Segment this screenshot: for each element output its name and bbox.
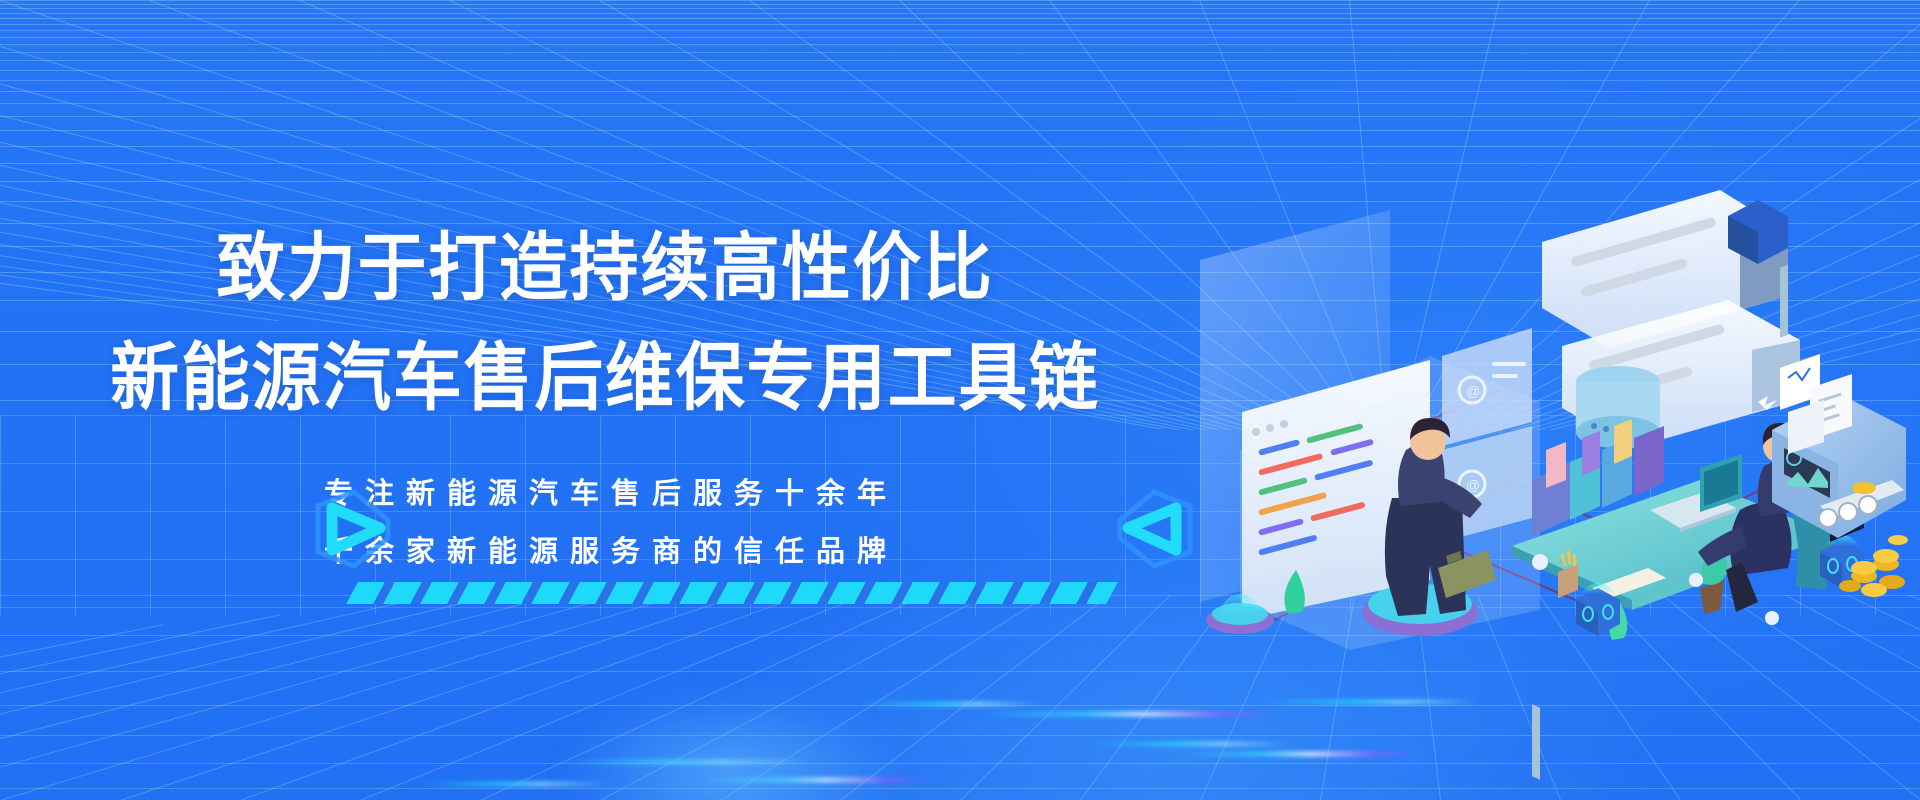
play-arrow-right-icon xyxy=(296,476,400,580)
svg-text:@: @ xyxy=(1466,383,1480,399)
subtitle-line-2: 千余家新能源服务商的信任品牌 xyxy=(0,528,1210,570)
svg-text:@: @ xyxy=(1466,477,1480,493)
coin-printer-machine xyxy=(1772,354,1906,538)
isometric-business-teamwork-illustration: @ @ xyxy=(1180,150,1920,670)
copy-block: 致力于打造持续高性价比 新能源汽车售后维保专用工具链 专注新能源汽车售后服务十余… xyxy=(0,0,1210,800)
subtitle-line-1: 专注新能源汽车售后服务十余年 xyxy=(0,470,1210,512)
headline-line-1: 致力于打造持续高性价比 xyxy=(42,208,1167,315)
hero-banner: 致力于打造持续高性价比 新能源汽车售后维保专用工具链 专注新能源汽车售后服务十余… xyxy=(0,0,1920,800)
diagonal-stripe-bar xyxy=(346,582,1118,604)
headline-line-2: 新能源汽车售后维保专用工具链 xyxy=(42,318,1167,425)
